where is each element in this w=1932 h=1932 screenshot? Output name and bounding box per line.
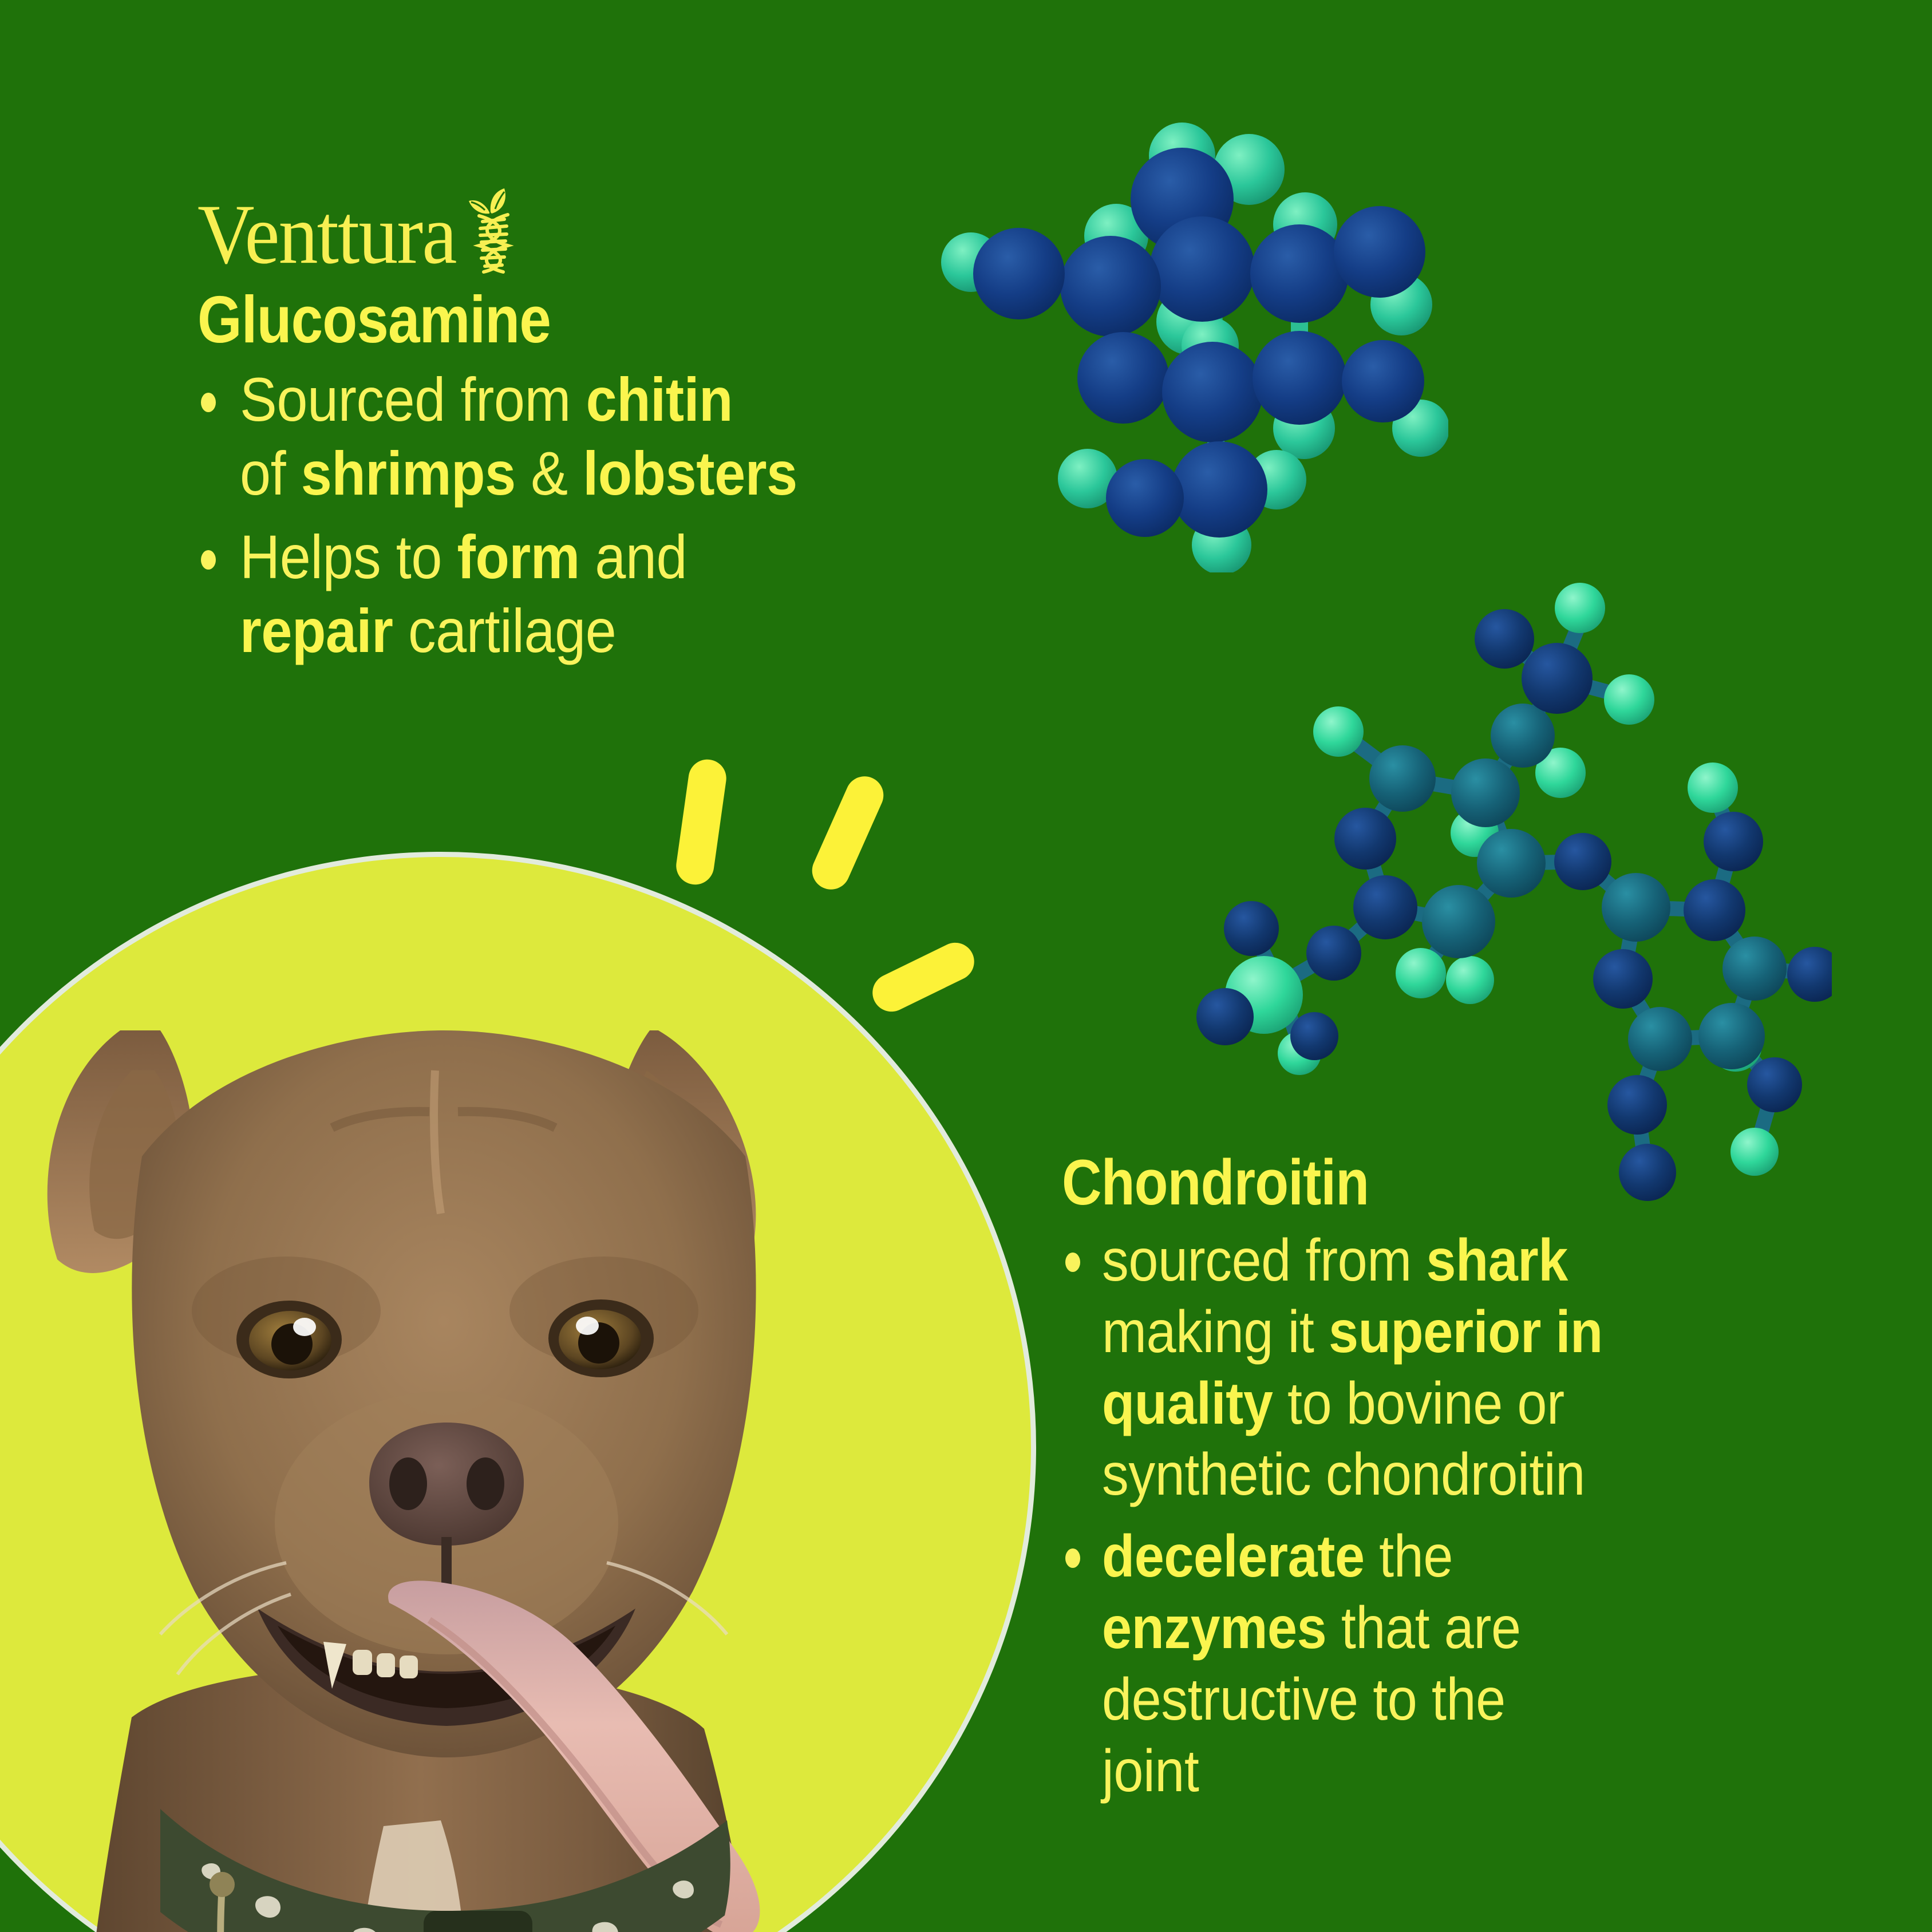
- bullet-line: joint: [1102, 1736, 1828, 1807]
- glucosamine-bullet-list: Sourced from chitinof shrimps & lobsters…: [197, 363, 1028, 667]
- bullet-line: destructive to the: [1102, 1664, 1828, 1736]
- bullet-item: decelerate theenzymes that aredestructiv…: [1062, 1521, 1909, 1807]
- bullet-line: quality to bovine or: [1102, 1368, 1828, 1440]
- poster-canvas: Venttura Glucosamine Sourced from chitin…: [0, 0, 1932, 1932]
- chondroitin-heading: Chondroitin: [1062, 1151, 1791, 1215]
- dna-leaf-icon: [462, 186, 516, 275]
- bullet-line: making it superior in: [1102, 1297, 1828, 1368]
- glucosamine-section: Glucosamine Sourced from chitinof shrimp…: [197, 286, 1028, 667]
- brand-name: Venttura: [197, 192, 456, 277]
- bullet-line: of shrimps & lobsters: [240, 437, 949, 511]
- happy-dog-photo: [0, 859, 916, 1932]
- bullet-line: decelerate the: [1102, 1521, 1828, 1593]
- bullet-item: Sourced from chitinof shrimps & lobsters: [197, 363, 1028, 510]
- bullet-line: repair cartilage: [240, 594, 949, 668]
- bullet-line: Sourced from chitin: [240, 363, 949, 437]
- bullet-line: enzymes that are: [1102, 1593, 1828, 1664]
- bullet-line: Helps to form and: [240, 520, 949, 594]
- bullet-item: sourced from sharkmaking it superior inq…: [1062, 1225, 1909, 1511]
- chondroitin-bullet-list: sourced from sharkmaking it superior inq…: [1062, 1225, 1909, 1807]
- bullet-line: sourced from shark: [1102, 1225, 1828, 1297]
- dog-photo-group: [0, 852, 1036, 1932]
- glucosamine-heading: Glucosamine: [197, 286, 911, 353]
- chondroitin-molecule-model: [1156, 532, 1832, 1208]
- bullet-line: synthetic chondroitin: [1102, 1439, 1828, 1511]
- bullet-item: Helps to form andrepair cartilage: [197, 520, 1028, 667]
- brand-logo[interactable]: Venttura: [197, 186, 516, 277]
- chondroitin-section: Chondroitin sourced from sharkmaking it …: [1062, 1151, 1909, 1807]
